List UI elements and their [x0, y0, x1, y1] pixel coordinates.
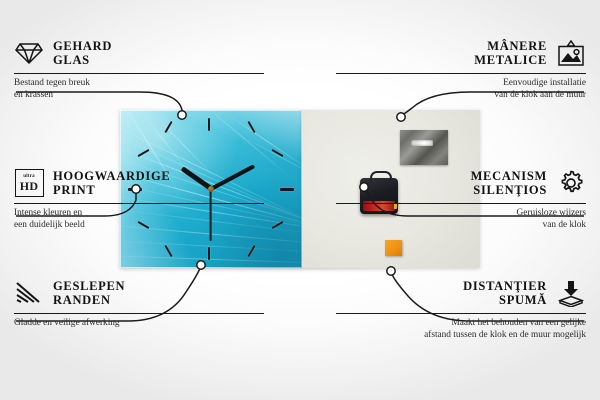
divider — [14, 313, 264, 314]
divider — [336, 73, 586, 74]
feature-callout-manere-metalice[interactable]: MÂNERE METALICE Eenvoudige installatie v… — [336, 38, 586, 102]
foam-spacer — [385, 240, 402, 256]
callout-title: HOOGWAARDIGE PRINT — [53, 169, 170, 198]
feature-callout-mecanism-silentios[interactable]: MECANISM SILENŢIOS Geruisloze wijzers va… — [336, 168, 586, 232]
beveled-edges-icon — [14, 278, 44, 308]
infographic-canvas: GEHARD GLAS Bestand tegen breuk en krass… — [0, 0, 600, 400]
callout-description: Bestand tegen breuk en krassen — [14, 78, 264, 101]
ultra-hd-large-label: HD — [20, 180, 39, 192]
callout-title: DISTANŢIER SPUMĂ — [463, 279, 547, 308]
gear-icon — [556, 168, 586, 198]
hanger-slot — [411, 140, 433, 146]
callout-title: GEHARD GLAS — [53, 39, 112, 68]
feature-callout-distantier-spuma[interactable]: DISTANŢIER SPUMĂ Maakt het behouden van … — [336, 278, 586, 342]
metal-hanger-plate — [400, 130, 448, 165]
foam-spacer-icon — [556, 278, 586, 308]
divider — [336, 313, 586, 314]
callout-title: MÂNERE METALICE — [474, 39, 547, 68]
feature-callout-geslepen-randen[interactable]: GESLEPEN RANDEN Gladde en veilige afwerk… — [14, 278, 264, 330]
ultra-hd-icon: ultra HD — [14, 168, 44, 198]
callout-description: Maakt het behouden van een gelijke afsta… — [336, 318, 586, 341]
divider — [336, 203, 586, 204]
feature-callout-hoogwaardige-print[interactable]: ultra HD HOOGWAARDIGE PRINT Intense kleu… — [14, 168, 264, 232]
callout-title: MECANISM SILENŢIOS — [471, 169, 547, 198]
callout-description: Gladde en veilige afwerking — [14, 318, 264, 330]
diamond-icon — [14, 38, 44, 68]
callout-title: GESLEPEN RANDEN — [53, 279, 125, 308]
divider — [14, 203, 264, 204]
callout-description: Intense kleuren en een duidelijk beeld — [14, 208, 264, 231]
callout-description: Eenvoudige installatie van de klok aan d… — [336, 78, 586, 101]
picture-frame-icon — [556, 38, 586, 68]
feature-callout-gehard-glas[interactable]: GEHARD GLAS Bestand tegen breuk en krass… — [14, 38, 264, 102]
callout-description: Geruisloze wijzers van de klok — [336, 208, 586, 231]
divider — [14, 73, 264, 74]
